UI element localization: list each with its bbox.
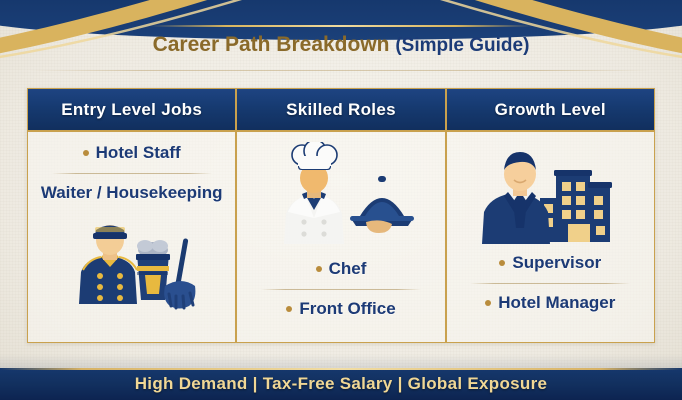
subtitle-divider <box>30 70 652 71</box>
table-header-row: Entry Level Jobs Skilled Roles Growth Le… <box>28 89 654 132</box>
bottom-banner-shadow <box>0 354 682 368</box>
list-item-label: Front Office <box>299 300 395 319</box>
column-growth-level: Supervisor Hotel Manager <box>447 132 654 342</box>
list-item-label: Chef <box>329 260 367 279</box>
poster-canvas: Global Hospitality Jobs Career Path Brea… <box>0 0 682 400</box>
column-header-entry-level: Entry Level Jobs <box>28 89 237 130</box>
list-item: Waiter / Housekeeping <box>41 184 223 203</box>
list-item: Supervisor <box>499 254 601 273</box>
column-header-growth-level: Growth Level <box>447 89 654 130</box>
list-item: Hotel Manager <box>485 294 615 313</box>
banner-underline <box>150 25 532 27</box>
bottom-banner: High Demand | Tax-Free Salary | Global E… <box>0 368 682 400</box>
manager-and-hotel-building-icon <box>470 142 630 246</box>
subtitle-primary: Career Path Breakdown <box>153 33 390 56</box>
column-skilled-roles: Chef Front Office <box>237 132 446 342</box>
career-path-table: Entry Level Jobs Skilled Roles Growth Le… <box>27 88 655 343</box>
list-item: Chef <box>316 260 367 279</box>
list-item-label: Hotel Staff <box>96 144 181 163</box>
list-item-label: Waiter / Housekeeping <box>41 184 223 203</box>
column-entry-level: Hotel Staff Waiter / Housekeeping <box>28 132 237 342</box>
list-item-label: Supervisor <box>512 254 601 273</box>
item-divider <box>470 283 630 284</box>
bullet-icon <box>83 150 89 156</box>
list-item: Front Office <box>286 300 395 319</box>
item-divider <box>52 173 212 174</box>
bellhop-and-housekeeping-icon <box>57 214 207 310</box>
subtitle-secondary: (Simple Guide) <box>395 35 529 56</box>
bullet-icon <box>286 306 292 312</box>
bullet-icon <box>485 300 491 306</box>
item-divider <box>261 289 421 290</box>
column-header-skilled-roles: Skilled Roles <box>237 89 446 130</box>
list-item-label: Hotel Manager <box>498 294 615 313</box>
chef-with-cloche-icon <box>266 142 416 250</box>
subtitle: Career Path Breakdown (Simple Guide) <box>0 33 682 57</box>
bullet-icon <box>499 260 505 266</box>
bullet-icon <box>316 266 322 272</box>
table-body-row: Hotel Staff Waiter / Housekeeping <box>28 132 654 342</box>
list-item: Hotel Staff <box>83 144 181 163</box>
bottom-banner-text: High Demand | Tax-Free Salary | Global E… <box>135 374 548 394</box>
